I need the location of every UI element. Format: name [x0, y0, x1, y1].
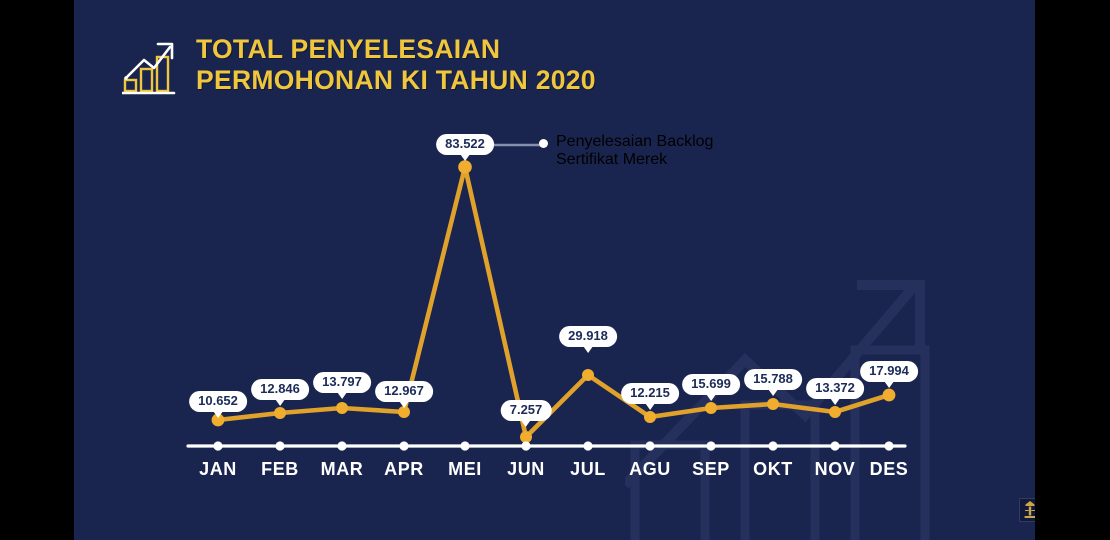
x-axis-label-des: DES — [870, 459, 909, 480]
value-bubble: 13.372 — [806, 378, 864, 405]
value-bubble: 17.994 — [860, 361, 918, 388]
value-bubble: 15.699 — [682, 374, 740, 401]
bubble-tail — [275, 399, 285, 406]
value-bubble: 13.797 — [313, 372, 371, 399]
bubble-tail — [521, 420, 531, 427]
x-axis-label-sep: SEP — [692, 459, 730, 480]
bubble-tail — [213, 411, 223, 418]
bubble-tail — [706, 394, 716, 401]
chart-legend: Penyelesaian Backlog Sertifikat Merek — [539, 133, 713, 169]
bubble-tail — [645, 403, 655, 410]
value-label: 12.215 — [621, 383, 679, 404]
x-axis-label-okt: OKT — [753, 459, 793, 480]
bubble-tail — [460, 154, 470, 161]
bubble-tail — [768, 389, 778, 396]
value-label: 10.652 — [189, 391, 247, 412]
value-label: 12.846 — [251, 379, 309, 400]
x-axis-label-jun: JUN — [507, 459, 545, 480]
x-axis-label-mei: MEI — [448, 459, 482, 480]
x-axis-label-apr: APR — [384, 459, 424, 480]
bubble-tail — [830, 398, 840, 405]
x-axis-label-agu: AGU — [629, 459, 671, 480]
x-axis-label-mar: MAR — [321, 459, 364, 480]
bubble-tail — [583, 346, 593, 353]
value-bubble: 12.967 — [375, 381, 433, 408]
bubble-tail — [337, 392, 347, 399]
slide-canvas: TOTAL PENYELESAIAN PERMOHONAN KI TAHUN 2… — [74, 0, 1035, 540]
bubble-tail — [399, 401, 409, 408]
x-axis-label-jul: JUL — [570, 459, 606, 480]
legend-label-line-2: Sertifikat Merek — [556, 151, 713, 169]
legend-text: Penyelesaian Backlog Sertifikat Merek — [556, 133, 713, 169]
legend-label-line-1: Penyelesaian Backlog — [556, 133, 713, 151]
value-bubble: 15.788 — [744, 369, 802, 396]
value-bubble: 12.215 — [621, 383, 679, 410]
bubble-tail — [884, 381, 894, 388]
value-bubble-peak: 83.522 — [436, 134, 494, 161]
value-label: 7.257 — [501, 400, 552, 421]
x-axis-label-nov: NOV — [815, 459, 856, 480]
legend-dot-icon — [539, 139, 548, 148]
value-label: 13.372 — [806, 378, 864, 399]
x-axis-label-jan: JAN — [199, 459, 237, 480]
value-label: 12.967 — [375, 381, 433, 402]
series-points — [212, 160, 896, 443]
value-label: 83.522 — [436, 134, 494, 155]
value-bubble: 10.652 — [189, 391, 247, 418]
letterbox-left — [0, 0, 74, 540]
slide-stage: TOTAL PENYELESAIAN PERMOHONAN KI TAHUN 2… — [0, 0, 1110, 540]
letterbox-right — [1035, 0, 1110, 540]
value-bubble: 29.918 — [559, 326, 617, 353]
value-label: 29.918 — [559, 326, 617, 347]
value-bubble: 12.846 — [251, 379, 309, 406]
value-bubble: 7.257 — [501, 400, 552, 427]
value-label: 15.788 — [744, 369, 802, 390]
value-label: 13.797 — [313, 372, 371, 393]
value-label: 17.994 — [860, 361, 918, 382]
value-label: 15.699 — [682, 374, 740, 395]
x-axis-label-feb: FEB — [261, 459, 299, 480]
